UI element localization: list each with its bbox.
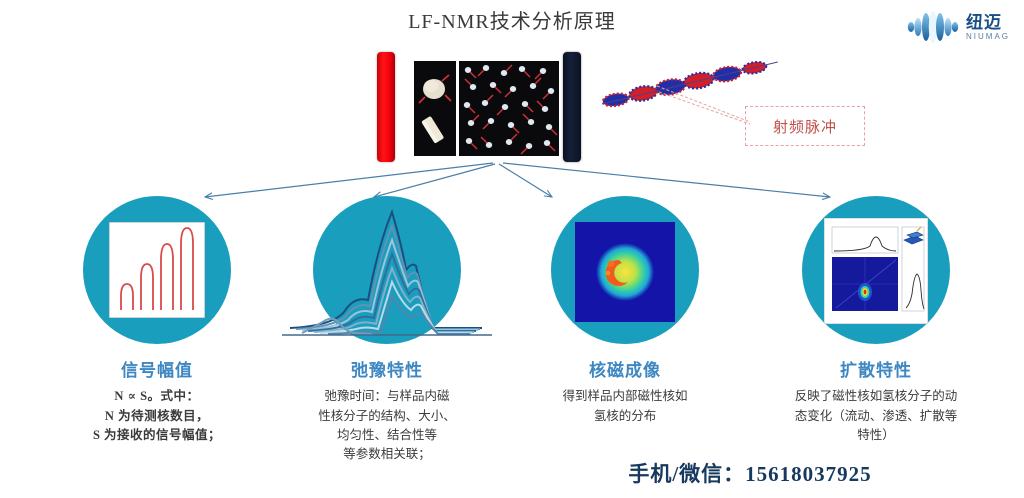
body-line: 反映了磁性核如氢核分子的动 xyxy=(742,387,1010,406)
diffusion-figure xyxy=(742,196,1010,356)
relaxation-curves-chart xyxy=(282,200,492,350)
column-relaxation: 弛豫特性 弛豫时间：与样品内磁 性核分子的结构、大小、 均匀性、结合性等 等参数… xyxy=(272,196,502,465)
body-line: 等参数相关联； xyxy=(272,445,502,464)
body-line: 氢核的分布 xyxy=(515,407,735,426)
heading-mri: 核磁成像 xyxy=(515,360,735,381)
diffusion-2d-map xyxy=(824,218,928,324)
mri-false-color-image xyxy=(575,222,675,322)
body-line: 均匀性、结合性等 xyxy=(272,426,502,445)
mri-figure xyxy=(515,196,735,356)
body-line: 性核分子的结构、大小、 xyxy=(272,407,502,426)
column-diffusion: 扩散特性 反映了磁性核如氢核分子的动 态变化（流动、渗透、扩散等 特性） xyxy=(742,196,1010,445)
body-relaxation: 弛豫时间：与样品内磁 性核分子的结构、大小、 均匀性、结合性等 等参数相关联； xyxy=(272,387,502,465)
body-line: 得到样品内部磁性核如 xyxy=(515,387,735,406)
body-line: N 为待测核数目， xyxy=(32,407,282,426)
relaxation-figure xyxy=(272,196,502,356)
column-signal-amplitude: 信号幅值 N ∝ S。式中： N 为待测核数目， S 为接收的信号幅值； xyxy=(32,196,282,445)
body-diffusion: 反映了磁性核如氢核分子的动 态变化（流动、渗透、扩散等 特性） xyxy=(742,387,1010,445)
signal-peaks-chart xyxy=(109,222,205,318)
body-line: 弛豫时间：与样品内磁 xyxy=(272,387,502,406)
body-signal-amplitude: N ∝ S。式中： N 为待测核数目， S 为接收的信号幅值； xyxy=(32,387,282,445)
heading-relaxation: 弛豫特性 xyxy=(272,360,502,381)
heading-diffusion: 扩散特性 xyxy=(742,360,1010,381)
body-line: S 为接收的信号幅值； xyxy=(32,426,282,445)
arrow-to-relaxation xyxy=(374,164,495,197)
body-line: 特性） xyxy=(742,426,1010,445)
body-mri: 得到样品内部磁性核如 氢核的分布 xyxy=(515,387,735,426)
arrow-to-diffusion xyxy=(503,163,830,197)
arrow-to-mri xyxy=(499,164,552,197)
column-mri: 核磁成像 得到样品内部磁性核如 氢核的分布 xyxy=(515,196,735,426)
heading-signal-amplitude: 信号幅值 xyxy=(32,360,282,381)
body-line: 态变化（流动、渗透、扩散等 xyxy=(742,407,1010,426)
body-line: N ∝ S。式中： xyxy=(32,387,282,406)
arrow-to-signal-amplitude xyxy=(205,163,493,197)
slide-canvas: LF-NMR技术分析原理 纽迈 NIUMAG xyxy=(0,0,1024,498)
signal-amplitude-figure xyxy=(32,196,282,356)
contact-info: 手机/微信：15618037925 xyxy=(560,458,940,488)
